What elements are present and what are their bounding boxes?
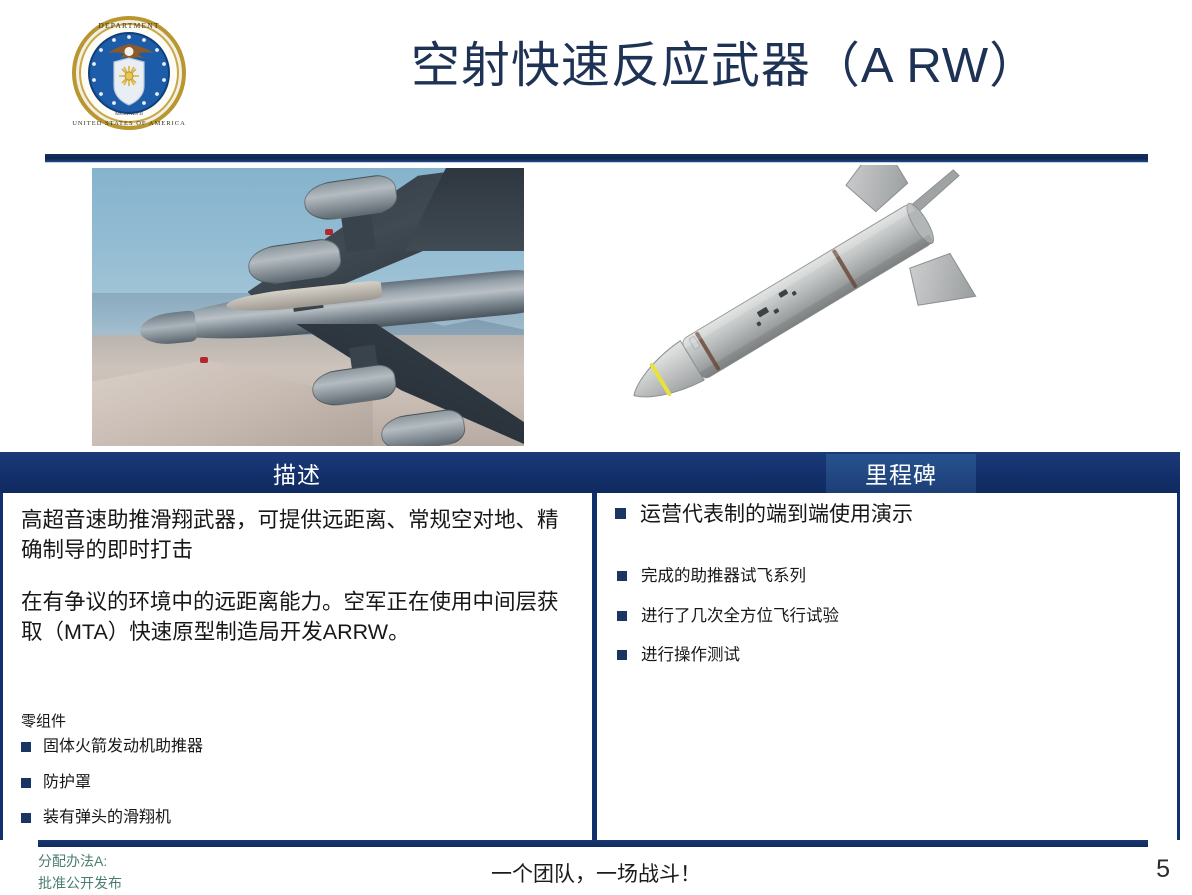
page-title: 空射快速反应武器（A RW） xyxy=(330,22,1120,112)
description-paragraph-1: 高超音速助推滑翔武器，可提供远距离、常规空对地、精确制导的即时打击 xyxy=(21,506,573,565)
components-list: 固体火箭发动机助推器 防护罩 装有弹头的滑翔机 xyxy=(21,736,441,843)
page-number: 5 xyxy=(1156,855,1170,884)
bullet-square-icon xyxy=(615,508,626,519)
milestone-label: 进行了几次全方位飞行试验 xyxy=(641,606,839,627)
bullet-square-icon xyxy=(21,813,31,823)
footer-divider-rule xyxy=(38,840,1148,847)
bullet-square-icon xyxy=(617,611,627,621)
list-item: 装有弹头的滑翔机 xyxy=(21,807,441,829)
column-header-description: 描述 xyxy=(0,452,594,493)
component-label: 防护罩 xyxy=(43,772,91,794)
milestones-list: 运营代表制的端到端使用演示 完成的助推器试飞系列 进行了几次全方位飞行试验 进行… xyxy=(615,501,1135,685)
svg-text:MCMXLVII: MCMXLVII xyxy=(115,111,143,117)
bullet-square-icon xyxy=(21,742,31,752)
list-item: 进行操作测试 xyxy=(617,645,1135,666)
list-item: 进行了几次全方位飞行试验 xyxy=(617,606,1135,627)
title-divider-rule xyxy=(45,154,1148,162)
bullet-square-icon xyxy=(617,650,627,660)
milestone-label: 完成的助推器试飞系列 xyxy=(641,566,806,587)
description-paragraph-2: 在有争议的环境中的远距离能力。空军正在使用中间层获取（MTA）快速原型制造局开发… xyxy=(21,588,573,647)
components-heading: 零组件 xyxy=(21,710,66,731)
list-item: 固体火箭发动机助推器 xyxy=(21,736,441,758)
component-label: 装有弹头的滑翔机 xyxy=(43,807,171,829)
slide-canvas: DEPARTMENT UNITED STATES OF AMERICA MCMX… xyxy=(0,0,1192,895)
b52-photo xyxy=(92,168,524,446)
milestone-label: 进行操作测试 xyxy=(641,645,740,666)
list-item: 防护罩 xyxy=(21,772,441,794)
svg-text:UNITED STATES OF AMERICA: UNITED STATES OF AMERICA xyxy=(72,120,186,127)
milestone-label: 运营代表制的端到端使用演示 xyxy=(640,501,913,528)
milestones-column: 运营代表制的端到端使用演示 完成的助推器试飞系列 进行了几次全方位飞行试验 进行… xyxy=(597,493,1177,840)
footer-motto: 一个团队，一场战斗！ xyxy=(0,858,1192,888)
air-force-seal-icon: DEPARTMENT UNITED STATES OF AMERICA MCMX… xyxy=(70,14,188,132)
column-header-milestones: 里程碑 xyxy=(826,452,976,493)
list-item: 运营代表制的端到端使用演示 xyxy=(615,501,1135,528)
arrw-missile-render xyxy=(585,165,1035,447)
svg-text:DEPARTMENT: DEPARTMENT xyxy=(98,21,159,30)
component-label: 固体火箭发动机助推器 xyxy=(43,736,203,758)
description-column: 高超音速助推滑翔武器，可提供远距离、常规空对地、精确制导的即时打击 在有争议的环… xyxy=(3,493,592,840)
bullet-square-icon xyxy=(617,571,627,581)
table-right-border xyxy=(1177,493,1180,840)
bullet-square-icon xyxy=(21,778,31,788)
list-item: 完成的助推器试飞系列 xyxy=(617,566,1135,587)
